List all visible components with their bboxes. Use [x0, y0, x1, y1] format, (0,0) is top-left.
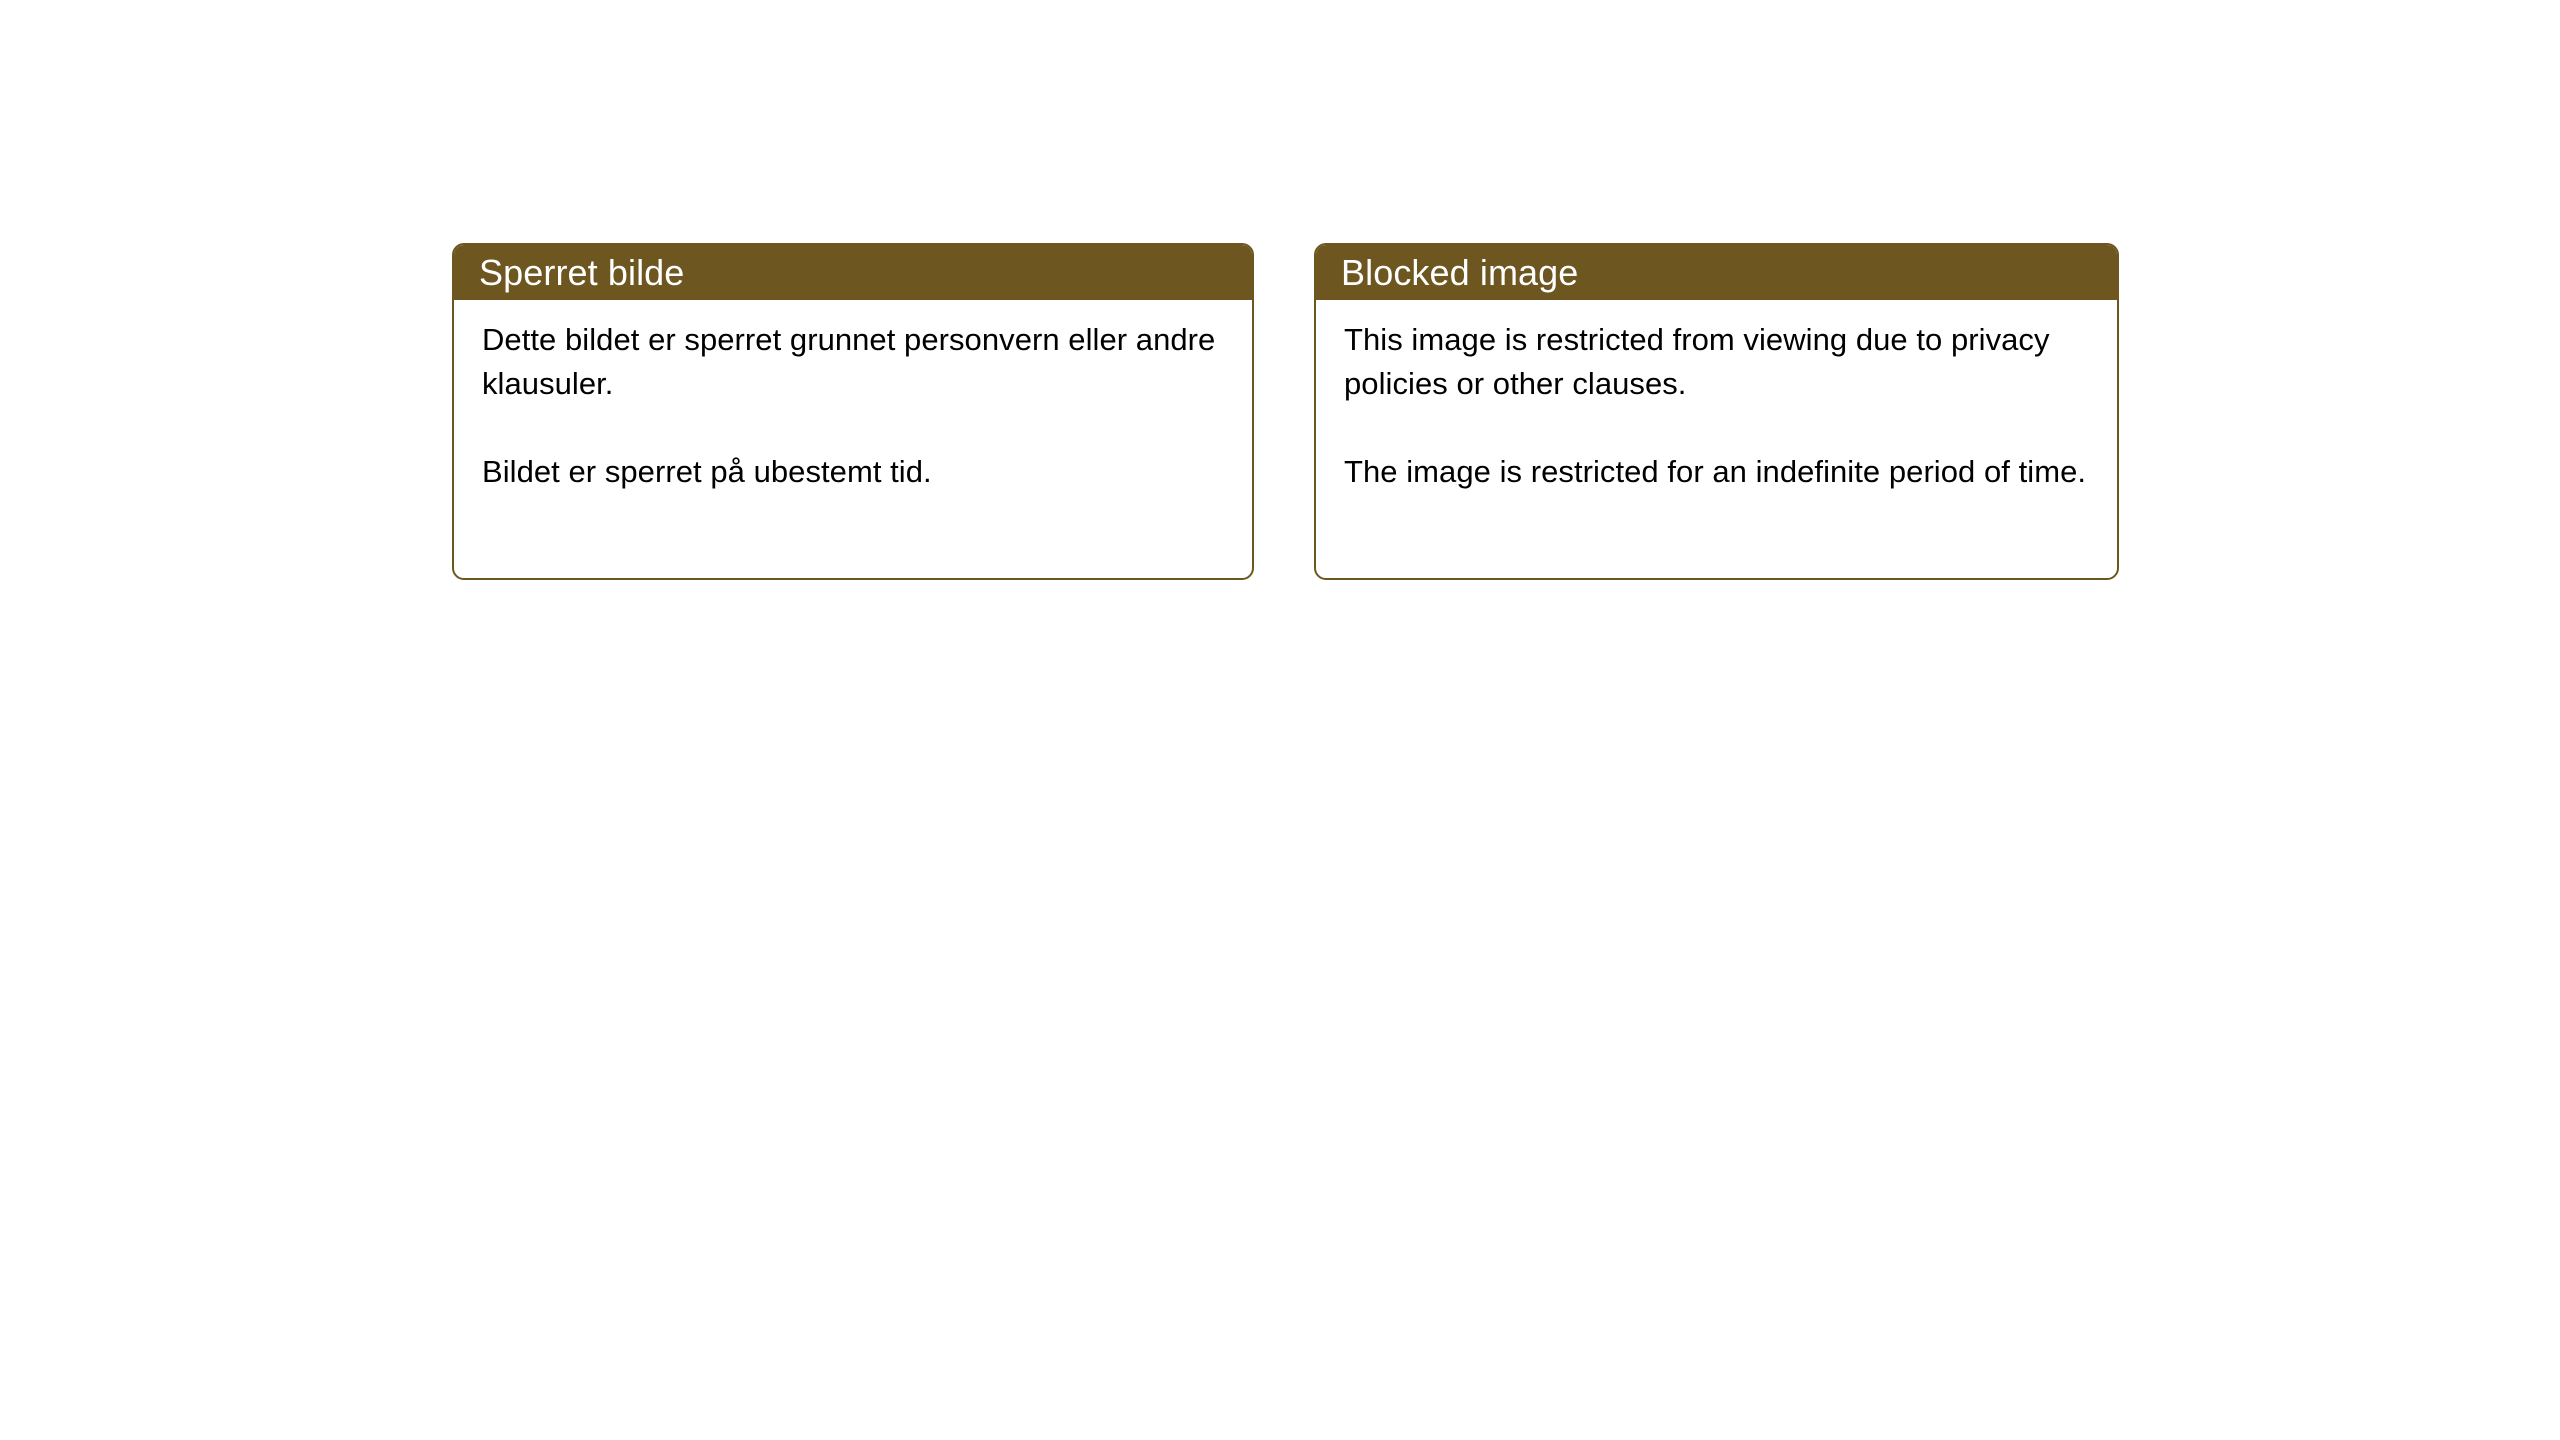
blocked-image-card-english: Blocked image This image is restricted f… — [1314, 243, 2119, 580]
blocked-image-notice-area: Sperret bilde Dette bildet er sperret gr… — [452, 243, 2119, 580]
card-title-english: Blocked image — [1341, 255, 1578, 291]
card-header-english: Blocked image — [1316, 245, 2117, 300]
card-paragraph-reason-norwegian: Dette bildet er sperret grunnet personve… — [482, 318, 1230, 406]
card-header-norwegian: Sperret bilde — [454, 245, 1252, 300]
card-body-norwegian: Dette bildet er sperret grunnet personve… — [454, 300, 1252, 578]
card-paragraph-duration-english: The image is restricted for an indefinit… — [1344, 450, 2095, 494]
card-paragraph-duration-norwegian: Bildet er sperret på ubestemt tid. — [482, 450, 1230, 494]
card-title-norwegian: Sperret bilde — [479, 255, 684, 291]
card-body-english: This image is restricted from viewing du… — [1316, 300, 2117, 578]
blocked-image-card-norwegian: Sperret bilde Dette bildet er sperret gr… — [452, 243, 1254, 580]
card-paragraph-reason-english: This image is restricted from viewing du… — [1344, 318, 2095, 406]
